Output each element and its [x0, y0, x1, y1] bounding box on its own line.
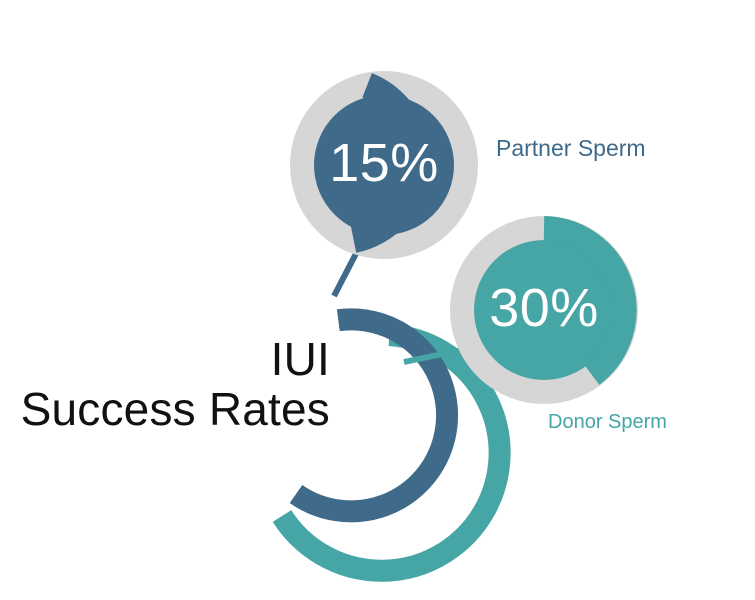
metric-label-donor-sperm: Donor Sperm	[548, 411, 667, 434]
infographic-artwork	[0, 0, 755, 600]
page-title-line-1: IUI	[0, 335, 330, 385]
metric-value-partner-sperm: 15%	[314, 132, 454, 194]
infographic-canvas: IUI Success Rates 15% 30% Partner Sperm …	[0, 0, 755, 600]
page-title: IUI Success Rates	[0, 335, 330, 434]
metric-value-donor-sperm: 30%	[474, 277, 614, 339]
page-title-line-2: Success Rates	[0, 385, 330, 435]
metric-label-partner-sperm: Partner Sperm	[496, 135, 646, 162]
